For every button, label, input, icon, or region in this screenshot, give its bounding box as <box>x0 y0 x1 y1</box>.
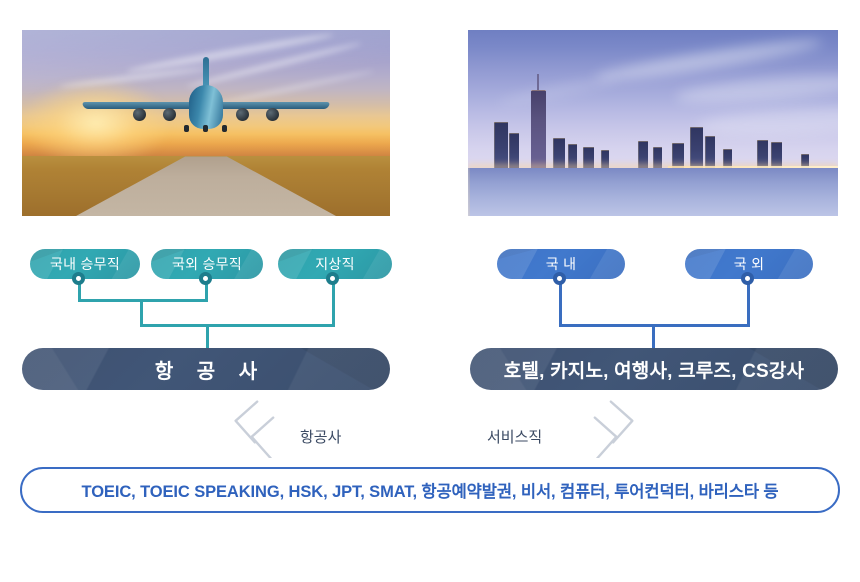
diagram-canvas: 국내 승무직 국외 승무직 지상직 항 공 사 국 내 국 외 호텔, 카지노, <box>0 0 860 582</box>
result-bar-airline[interactable]: 항 공 사 <box>22 348 390 390</box>
connector-line <box>78 299 208 302</box>
certifications-banner-label: TOEIC, TOEIC SPEAKING, HSK, JPT, SMAT, 항… <box>82 478 779 502</box>
airplane-landing-gear <box>203 125 208 132</box>
certifications-banner[interactable]: TOEIC, TOEIC SPEAKING, HSK, JPT, SMAT, 항… <box>20 467 840 513</box>
photo-river <box>468 168 838 216</box>
airplane-engine <box>133 108 146 121</box>
result-bar-service[interactable]: 호텔, 카지노, 여행사, 크루즈, CS강사 <box>470 348 838 390</box>
connector-line <box>747 278 750 327</box>
airplane-landing-sunset-photo <box>22 30 390 216</box>
pill-label: 국 외 <box>734 254 765 274</box>
airplane-wing-left <box>81 102 204 109</box>
pill-domestic-cabin-crew[interactable]: 국내 승무직 <box>30 249 140 279</box>
connector-line <box>332 278 335 327</box>
caption-airline: 항공사 <box>300 426 341 447</box>
connector-line <box>206 324 209 350</box>
airplane-landing-gear <box>222 125 227 132</box>
pill-label: 국 내 <box>546 254 577 274</box>
result-bar-label: 호텔, 카지노, 여행사, 크루즈, CS강사 <box>504 356 804 383</box>
airplane-engine <box>236 108 249 121</box>
photo-skyline <box>468 90 838 168</box>
airplane-fuselage <box>189 85 223 129</box>
double-chevron-right-icon <box>562 396 642 458</box>
connector-line <box>559 278 562 327</box>
caption-service: 서비스직 <box>487 426 542 447</box>
photo-airplane <box>81 75 331 133</box>
double-chevron-left-icon <box>226 396 306 458</box>
airplane-landing-gear <box>184 125 189 132</box>
pill-label: 국외 승무직 <box>172 254 242 274</box>
city-skyline-dusk-photo <box>468 30 838 216</box>
pill-label: 지상직 <box>315 254 355 274</box>
result-bar-label: 항 공 사 <box>146 355 266 384</box>
pill-label: 국내 승무직 <box>50 254 120 274</box>
connector-line <box>652 324 655 350</box>
connector-line <box>140 324 335 327</box>
connector-line <box>140 299 143 327</box>
airplane-engine <box>266 108 279 121</box>
photo-landmark-tower <box>531 90 546 168</box>
airplane-engine <box>163 108 176 121</box>
